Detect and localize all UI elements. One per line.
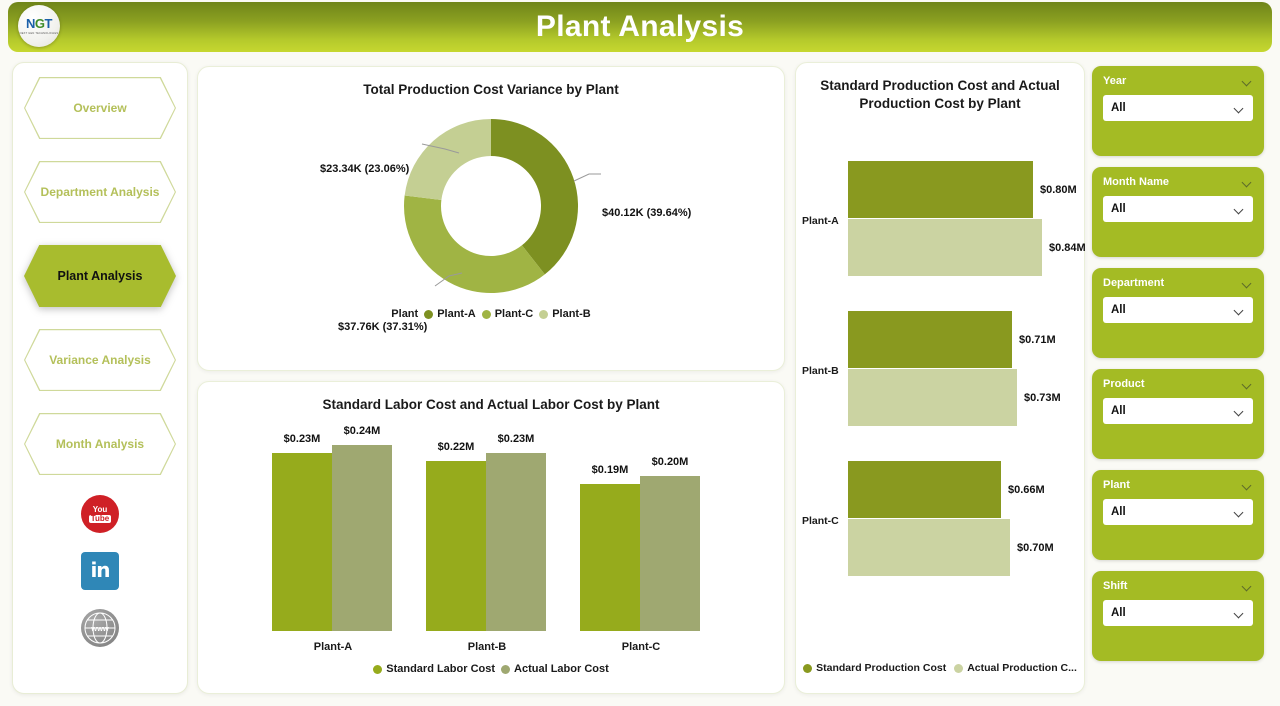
slicer-label: Product <box>1103 378 1145 390</box>
bar-value-label: $0.23M <box>498 433 535 445</box>
legend-label: Actual Production C... <box>967 662 1077 674</box>
youtube-top-text: You <box>93 506 108 514</box>
bar-actual-production-plant-c[interactable]: $0.70M <box>848 519 1010 576</box>
chevron-down-icon[interactable] <box>1234 206 1245 213</box>
slicer-value: All <box>1111 102 1126 114</box>
bar-standard-labor-plant-a[interactable]: $0.23M <box>272 453 332 631</box>
slicer-label: Department <box>1103 277 1164 289</box>
legend-swatch-icon <box>803 664 812 673</box>
slicer-department[interactable]: Department All <box>1092 268 1264 358</box>
bar-value-label: $0.22M <box>438 441 475 453</box>
slicer-label: Plant <box>1103 479 1130 491</box>
bar-actual-labor-plant-c[interactable]: $0.20M <box>640 476 700 631</box>
sidebar-item-label: Department Analysis <box>41 185 160 199</box>
website-label: www <box>91 624 109 633</box>
legend-label: Standard Labor Cost <box>386 663 495 675</box>
bar-standard-production-plant-b[interactable]: $0.71M <box>848 311 1012 368</box>
slicer-dropdown[interactable]: All <box>1103 398 1253 424</box>
slicer-header: Product <box>1103 378 1253 390</box>
logo-subtitle: NEXT GEN TECHNOLOGIES <box>20 32 59 35</box>
donut-svg <box>197 111 785 316</box>
donut-slice-plant-a[interactable] <box>491 119 578 274</box>
bar-value-label: $0.80M <box>1040 184 1077 196</box>
legend-swatch-icon <box>954 664 963 673</box>
labor-cost-card: Standard Labor Cost and Actual Labor Cos… <box>197 381 785 694</box>
sidebar-item-department-analysis[interactable]: Department Analysis <box>24 161 176 223</box>
chevron-down-icon[interactable] <box>1234 610 1245 617</box>
labor-bar-chart: $0.23M $0.24M Plant-A $0.22M $0.23M Plan… <box>198 414 784 659</box>
slicer-header: Department <box>1103 277 1253 289</box>
bar-group-plant-c: $0.19M $0.20M <box>580 476 700 631</box>
sidebar-nav: Overview Department Analysis Plant Analy… <box>12 62 188 694</box>
chart-title: Standard Production Cost and Actual Prod… <box>796 63 1084 113</box>
bar-actual-labor-plant-a[interactable]: $0.24M <box>332 445 392 631</box>
slicer-value: All <box>1111 203 1126 215</box>
chevron-down-icon[interactable] <box>1242 78 1253 85</box>
bar-group-plant-b: Plant-B $0.71M $0.73M <box>796 311 1084 436</box>
legend-item-actual-labor[interactable]: Actual Labor Cost <box>501 663 609 675</box>
chart-title-line1: Standard Production Cost and Actual <box>796 77 1084 95</box>
slicer-dropdown[interactable]: All <box>1103 95 1253 121</box>
bar-actual-labor-plant-b[interactable]: $0.23M <box>486 453 546 631</box>
sidebar-item-label: Overview <box>73 101 126 115</box>
legend-swatch-icon <box>501 665 510 674</box>
category-label-plant-b: Plant-B <box>426 641 548 653</box>
linkedin-label: in <box>90 558 109 582</box>
linkedin-icon[interactable]: in <box>81 552 119 590</box>
slicer-value: All <box>1111 405 1126 417</box>
slicer-header: Shift <box>1103 580 1253 592</box>
slicer-label: Shift <box>1103 580 1127 592</box>
production-cost-variance-card: Total Production Cost Variance by Plant … <box>197 66 785 371</box>
slicer-value: All <box>1111 607 1126 619</box>
slicer-header: Plant <box>1103 479 1253 491</box>
slicer-dropdown[interactable]: All <box>1103 499 1253 525</box>
slicer-value: All <box>1111 304 1126 316</box>
chevron-down-icon[interactable] <box>1242 583 1253 590</box>
chevron-down-icon[interactable] <box>1242 179 1253 186</box>
slicer-year[interactable]: Year All <box>1092 66 1264 156</box>
bar-standard-labor-plant-b[interactable]: $0.22M <box>426 461 486 631</box>
category-label-plant-c: Plant-C <box>580 641 702 653</box>
legend-label: Standard Production Cost <box>816 662 946 674</box>
slicer-dropdown[interactable]: All <box>1103 600 1253 626</box>
slicer-header: Month Name <box>1103 176 1253 188</box>
slicer-shift[interactable]: Shift All <box>1092 571 1264 661</box>
chevron-down-icon[interactable] <box>1242 280 1253 287</box>
sidebar-item-label: Variance Analysis <box>49 353 151 367</box>
category-label-plant-b: Plant-B <box>802 365 839 377</box>
company-logo: NGT NEXT GEN TECHNOLOGIES <box>18 5 60 47</box>
bar-group-plant-b: $0.22M $0.23M <box>426 453 546 631</box>
bar-value-label: $0.24M <box>344 425 381 437</box>
slicer-label: Month Name <box>1103 176 1169 188</box>
bar-value-label: $0.66M <box>1008 484 1045 496</box>
bar-group-plant-c: Plant-C $0.66M $0.70M <box>796 461 1084 586</box>
category-label-plant-a: Plant-A <box>272 641 394 653</box>
bar-value-label: $0.70M <box>1017 542 1054 554</box>
bar-actual-production-plant-a[interactable]: $0.84M <box>848 219 1042 276</box>
bar-standard-labor-plant-c[interactable]: $0.19M <box>580 484 640 631</box>
legend-item-standard-production[interactable]: Standard Production Cost <box>803 662 946 674</box>
donut-slice-plant-b[interactable] <box>405 119 491 200</box>
chevron-down-icon[interactable] <box>1234 105 1245 112</box>
slicer-value: All <box>1111 506 1126 518</box>
chart-title-line2: Production Cost by Plant <box>796 95 1084 113</box>
chevron-down-icon[interactable] <box>1234 509 1245 516</box>
sidebar-item-month-analysis[interactable]: Month Analysis <box>24 413 176 475</box>
sidebar-item-variance-analysis[interactable]: Variance Analysis <box>24 329 176 391</box>
labor-legend: Standard Labor Cost Actual Labor Cost <box>198 663 784 675</box>
bar-value-label: $0.20M <box>652 456 689 468</box>
chevron-down-icon[interactable] <box>1234 408 1245 415</box>
legend-swatch-icon <box>373 665 382 674</box>
legend-item-standard-labor[interactable]: Standard Labor Cost <box>373 663 495 675</box>
slicer-header: Year <box>1103 75 1253 87</box>
bar-value-label: $0.73M <box>1024 392 1061 404</box>
sidebar-item-plant-analysis[interactable]: Plant Analysis <box>24 245 176 307</box>
donut-label-plant-b: $23.34K (23.06%) <box>320 163 409 175</box>
bar-value-label: $0.71M <box>1019 334 1056 346</box>
youtube-bottom-text: Tube <box>89 515 112 523</box>
page-header: Plant Analysis <box>8 2 1272 52</box>
slicer-dropdown[interactable]: All <box>1103 196 1253 222</box>
chevron-down-icon[interactable] <box>1242 482 1253 489</box>
donut-label-plant-c: $37.76K (37.31%) <box>338 321 427 333</box>
legend-item-actual-production[interactable]: Actual Production C... <box>954 662 1077 674</box>
production-legend: Standard Production Cost Actual Producti… <box>796 662 1084 674</box>
bar-group-plant-a: $0.23M $0.24M <box>272 445 392 631</box>
bar-value-label: $0.84M <box>1049 242 1086 254</box>
bar-standard-production-plant-a[interactable]: $0.80M <box>848 161 1033 218</box>
slicer-month-name[interactable]: Month Name All <box>1092 167 1264 257</box>
chart-title: Total Production Cost Variance by Plant <box>198 67 784 99</box>
bar-value-label: $0.19M <box>592 464 629 476</box>
slicer-label: Year <box>1103 75 1126 87</box>
chart-title: Standard Labor Cost and Actual Labor Cos… <box>198 382 784 414</box>
youtube-icon[interactable]: You Tube <box>81 495 119 533</box>
sidebar-item-label: Plant Analysis <box>58 269 143 283</box>
production-cost-card: Standard Production Cost and Actual Prod… <box>795 62 1085 694</box>
logo-text: NGT <box>26 17 52 30</box>
category-label-plant-a: Plant-A <box>802 215 839 227</box>
website-globe-icon[interactable]: www <box>81 609 119 647</box>
sidebar-item-label: Month Analysis <box>56 437 144 451</box>
bar-standard-production-plant-c[interactable]: $0.66M <box>848 461 1001 518</box>
donut-label-plant-a: $40.12K (39.64%) <box>602 207 691 219</box>
slicer-product[interactable]: Product All <box>1092 369 1264 459</box>
category-label-plant-c: Plant-C <box>802 515 839 527</box>
bar-value-label: $0.23M <box>284 433 321 445</box>
donut-chart: $40.12K (39.64%) $23.34K (23.06%) $37.76… <box>198 99 784 304</box>
sidebar-item-overview[interactable]: Overview <box>24 77 176 139</box>
chevron-down-icon[interactable] <box>1234 307 1245 314</box>
legend-label: Actual Labor Cost <box>514 663 609 675</box>
slicer-plant[interactable]: Plant All <box>1092 470 1264 560</box>
social-links: You Tube in www <box>13 495 187 647</box>
page-title: Plant Analysis <box>536 10 744 44</box>
bar-actual-production-plant-b[interactable]: $0.73M <box>848 369 1017 426</box>
production-bar-chart: Plant-A $0.80M $0.84M Plant-B $0.71M $0.… <box>796 113 1084 658</box>
leader-line-plant-a <box>574 174 601 181</box>
slicer-dropdown[interactable]: All <box>1103 297 1253 323</box>
filter-panel: Year All Month Name All Department All P… <box>1092 66 1264 661</box>
chevron-down-icon[interactable] <box>1242 381 1253 388</box>
bar-group-plant-a: Plant-A $0.80M $0.84M <box>796 161 1084 286</box>
